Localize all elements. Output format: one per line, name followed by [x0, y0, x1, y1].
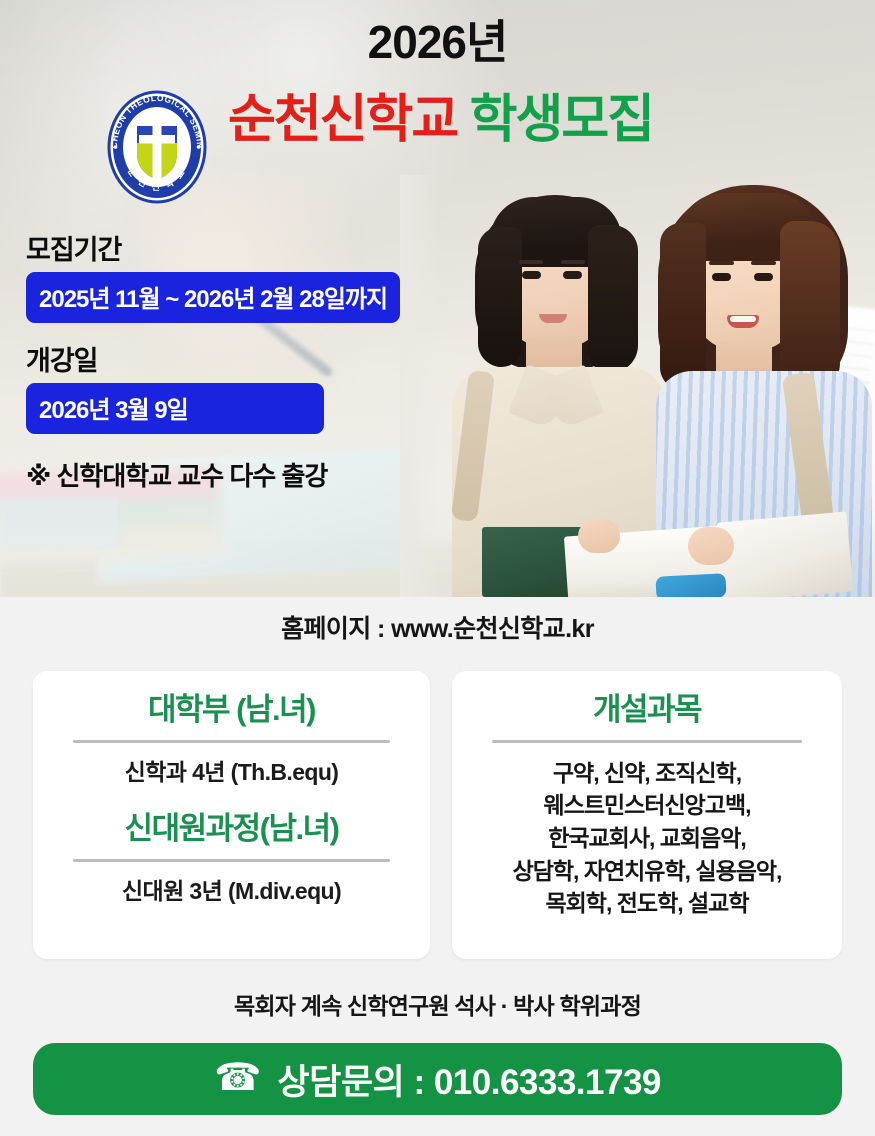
professors-note: ※ 신학대학교 교수 다수 출강: [26, 456, 400, 493]
recruitment-info-block: 모집기간 2025년 11월 ~ 2026년 2월 28일까지 개강일 2026…: [26, 228, 400, 493]
graduate-heading: 신대원과정(남.녀): [51, 810, 412, 849]
program-cards: 대학부 (남.녀) 신학과 4년 (Th.B.equ) 신대원과정(남.녀) 신…: [0, 645, 875, 959]
period-label: 모집기간: [26, 228, 400, 267]
graduate-research-line: 목회자 계속 신학연구원 석사 · 박사 학위과정: [0, 987, 875, 1021]
student-left-eye-left: [522, 271, 541, 279]
student-left-hair-left: [478, 227, 522, 367]
start-date-label: 개강일: [26, 339, 400, 378]
course-line: 구약, 신약, 조직신학,: [470, 757, 824, 790]
page-title-main: 순천신학교 학생모집: [228, 92, 653, 149]
courses-list: 구약, 신약, 조직신학, 웨스트민스터신앙고백, 한국교회사, 교회음악, 상…: [470, 757, 824, 920]
student-right-eye-right: [754, 273, 773, 281]
period-value-pill: 2025년 11월 ~ 2026년 2월 28일까지: [26, 272, 400, 323]
courses-heading: 개설과목: [470, 691, 824, 730]
contact-phone-number: 상담문의 : 010.6333.1739: [277, 1054, 660, 1105]
student-right-hair-left: [660, 223, 706, 391]
undergraduate-detail: 신학과 4년 (Th.B.equ): [51, 757, 412, 788]
telephone-icon: ☎: [214, 1059, 261, 1097]
card-divider: [73, 740, 390, 743]
student-right-hand: [688, 527, 734, 565]
student-left-brow-left: [519, 260, 543, 264]
homepage-line[interactable]: 홈페이지 : www.순천신학교.kr: [0, 597, 875, 645]
lower-section: 홈페이지 : www.순천신학교.kr 대학부 (남.녀) 신학과 4년 (Th…: [0, 597, 875, 1136]
student-left-hand: [578, 519, 620, 553]
poster-root: 2026년 순천신학교 학생모집 SUNCHEON THEOLOGICAL SE…: [0, 0, 875, 1136]
photo-edge-fade: [400, 175, 440, 597]
student-left-brow-right: [561, 260, 585, 264]
course-line: 목회학, 전도학, 설교학: [470, 887, 824, 920]
card-divider-second: [73, 859, 390, 862]
title-recruit-word: 학생모집: [470, 91, 653, 149]
card-inner-spacer: [51, 788, 412, 810]
page-title-year: 2026년: [0, 18, 875, 66]
student-right-teeth: [730, 316, 756, 322]
contact-banner[interactable]: ☎ 상담문의 : 010.6333.1739: [33, 1043, 842, 1115]
course-line: 한국교회사, 교회음악,: [470, 822, 824, 855]
courses-card: 개설과목 구약, 신약, 조직신학, 웨스트민스터신앙고백, 한국교회사, 교회…: [452, 671, 842, 959]
info-spacer: [26, 323, 400, 339]
undergraduate-heading: 대학부 (남.녀): [51, 691, 412, 730]
start-date-value-pill: 2026년 3월 9일: [26, 383, 324, 434]
hero-banner: 2026년 순천신학교 학생모집 SUNCHEON THEOLOGICAL SE…: [0, 0, 875, 597]
desk-books-stack-secondary: [0, 498, 120, 548]
students-photo: [420, 175, 875, 597]
poster-title-block: 2026년: [0, 18, 875, 66]
courses-card-divider: [492, 740, 802, 743]
student-left-eye-right: [563, 271, 582, 279]
school-logo: SUNCHEON THEOLOGICAL SEMINARY 순 천 신 학 교: [103, 88, 211, 206]
white-notebook: [717, 511, 853, 597]
student-left-hair-right: [588, 225, 638, 373]
graduate-detail: 신대원 3년 (M.div.equ): [51, 876, 412, 907]
blue-folder: [655, 573, 726, 597]
degree-programs-card: 대학부 (남.녀) 신학과 4년 (Th.B.equ) 신대원과정(남.녀) 신…: [33, 671, 430, 959]
course-line: 상담학, 자연치유학, 실용음악,: [470, 855, 824, 888]
student-right-eye-left: [712, 273, 731, 281]
title-school-name: 순천신학교: [228, 91, 457, 149]
course-line: 웨스트민스터신앙고백,: [470, 789, 824, 822]
student-right-brow-right: [751, 261, 776, 265]
student-right-brow-left: [709, 261, 734, 265]
